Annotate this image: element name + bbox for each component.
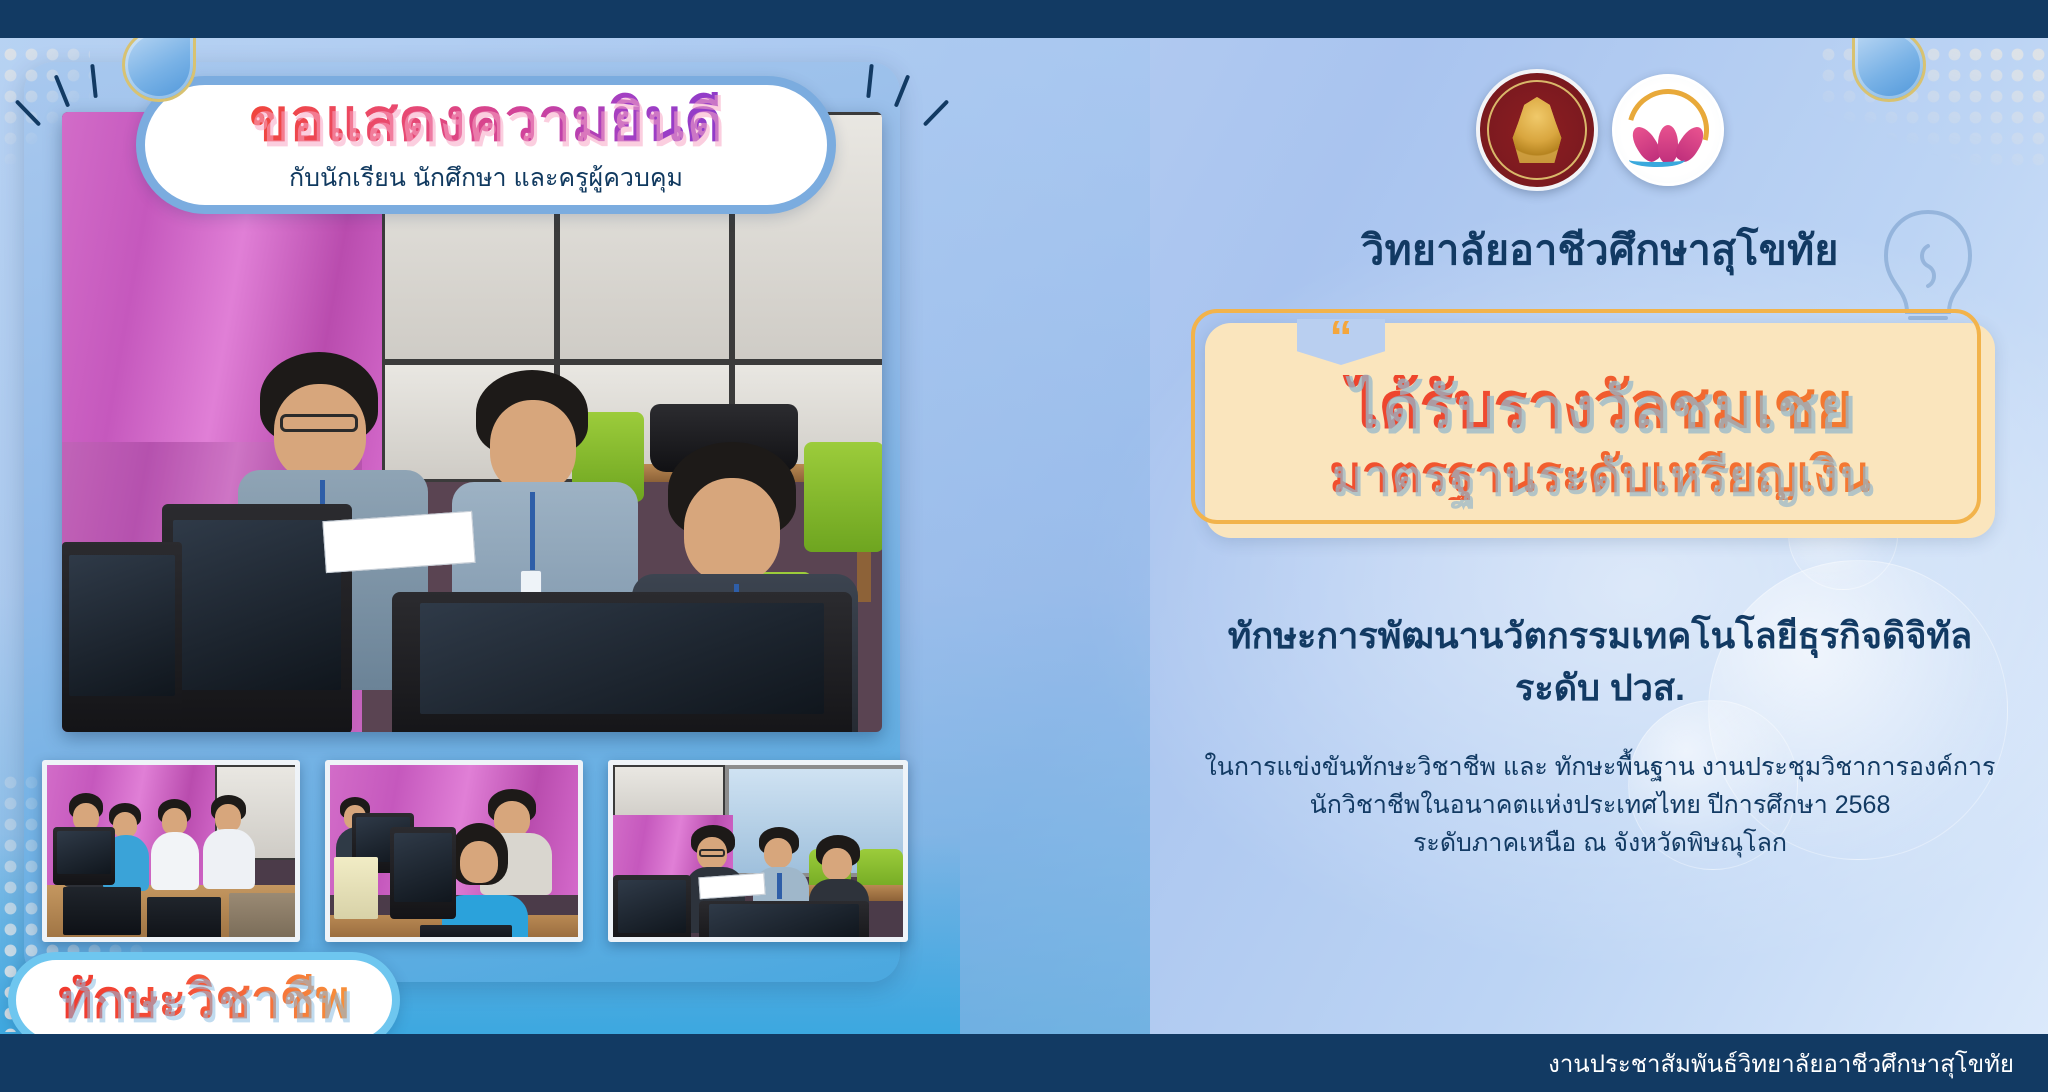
skill-category-title: ทักษะการพัฒนานวัตกรรมเทคโนโลยีธุรกิจดิจิ… (1160, 610, 2040, 714)
vocational-education-commission-seal-icon (1476, 69, 1598, 191)
skill-category-line1: ทักษะการพัฒนานวัตกรรมเทคโนโลยีธุรกิจดิจิ… (1160, 610, 2040, 662)
poster-root: ขอแสดงความยินดี กับนักเรียน นักศึกษา และ… (0, 0, 2048, 1092)
thumbnail-photo-2 (325, 760, 583, 942)
sukhothai-vocational-college-logo-icon (1612, 74, 1724, 186)
thumbnail-photo-1 (42, 760, 300, 942)
right-content-column: วิทยาลัยอาชีวศึกษาสุโขทัย “ ได้รับรางวัล… (1160, 60, 2040, 1020)
footer-bar: งานประชาสัมพันธ์วิทยาลัยอาชีวศึกษาสุโขทั… (0, 1034, 2048, 1092)
event-description-line2: นักวิชาชีพในอนาคตแห่งประเทศไทย ปีการศึกษ… (1160, 786, 2040, 824)
event-description-line3: ระดับภาคเหนือ ณ จังหวัดพิษณุโลก (1160, 824, 2040, 862)
gem-right-icon (1852, 28, 1926, 102)
banner-title: ขอแสดงความยินดี (249, 92, 722, 150)
skill-pill-label: ทักษะวิชาชีพ (58, 974, 349, 1026)
gem-left-icon (122, 28, 196, 102)
footer-credit: งานประชาสัมพันธ์วิทยาลัยอาชีวศึกษาสุโขทั… (1548, 1044, 2014, 1083)
award-quote-notch: “ (1297, 319, 1385, 365)
skill-category-line2: ระดับ ปวส. (1160, 662, 2040, 714)
top-bar (0, 0, 2048, 38)
congratulations-banner: ขอแสดงความยินดี กับนักเรียน นักศึกษา และ… (136, 76, 836, 214)
quote-mark-icon: “ (1330, 324, 1353, 352)
college-name: วิทยาลัยอาชีวศึกษาสุโขทัย (1160, 218, 2040, 283)
event-description-line1: ในการแข่งขันทักษะวิชาชีพ และ ทักษะพื้นฐา… (1160, 748, 2040, 786)
award-callout-box: “ ได้รับรางวัลชมเชย มาตรฐานระดับเหรียญเง… (1205, 323, 1995, 538)
banner-subtitle: กับนักเรียน นักศึกษา และครูผู้ควบคุม (289, 158, 683, 198)
award-title-line2: มาตรฐานระดับเหรียญเงิน (1205, 451, 1995, 500)
event-description: ในการแข่งขันทักษะวิชาชีพ และ ทักษะพื้นฐา… (1160, 748, 2040, 862)
thumbnail-photo-3 (608, 760, 908, 942)
award-title-line1: ได้รับรางวัลชมเชย (1205, 375, 1995, 438)
